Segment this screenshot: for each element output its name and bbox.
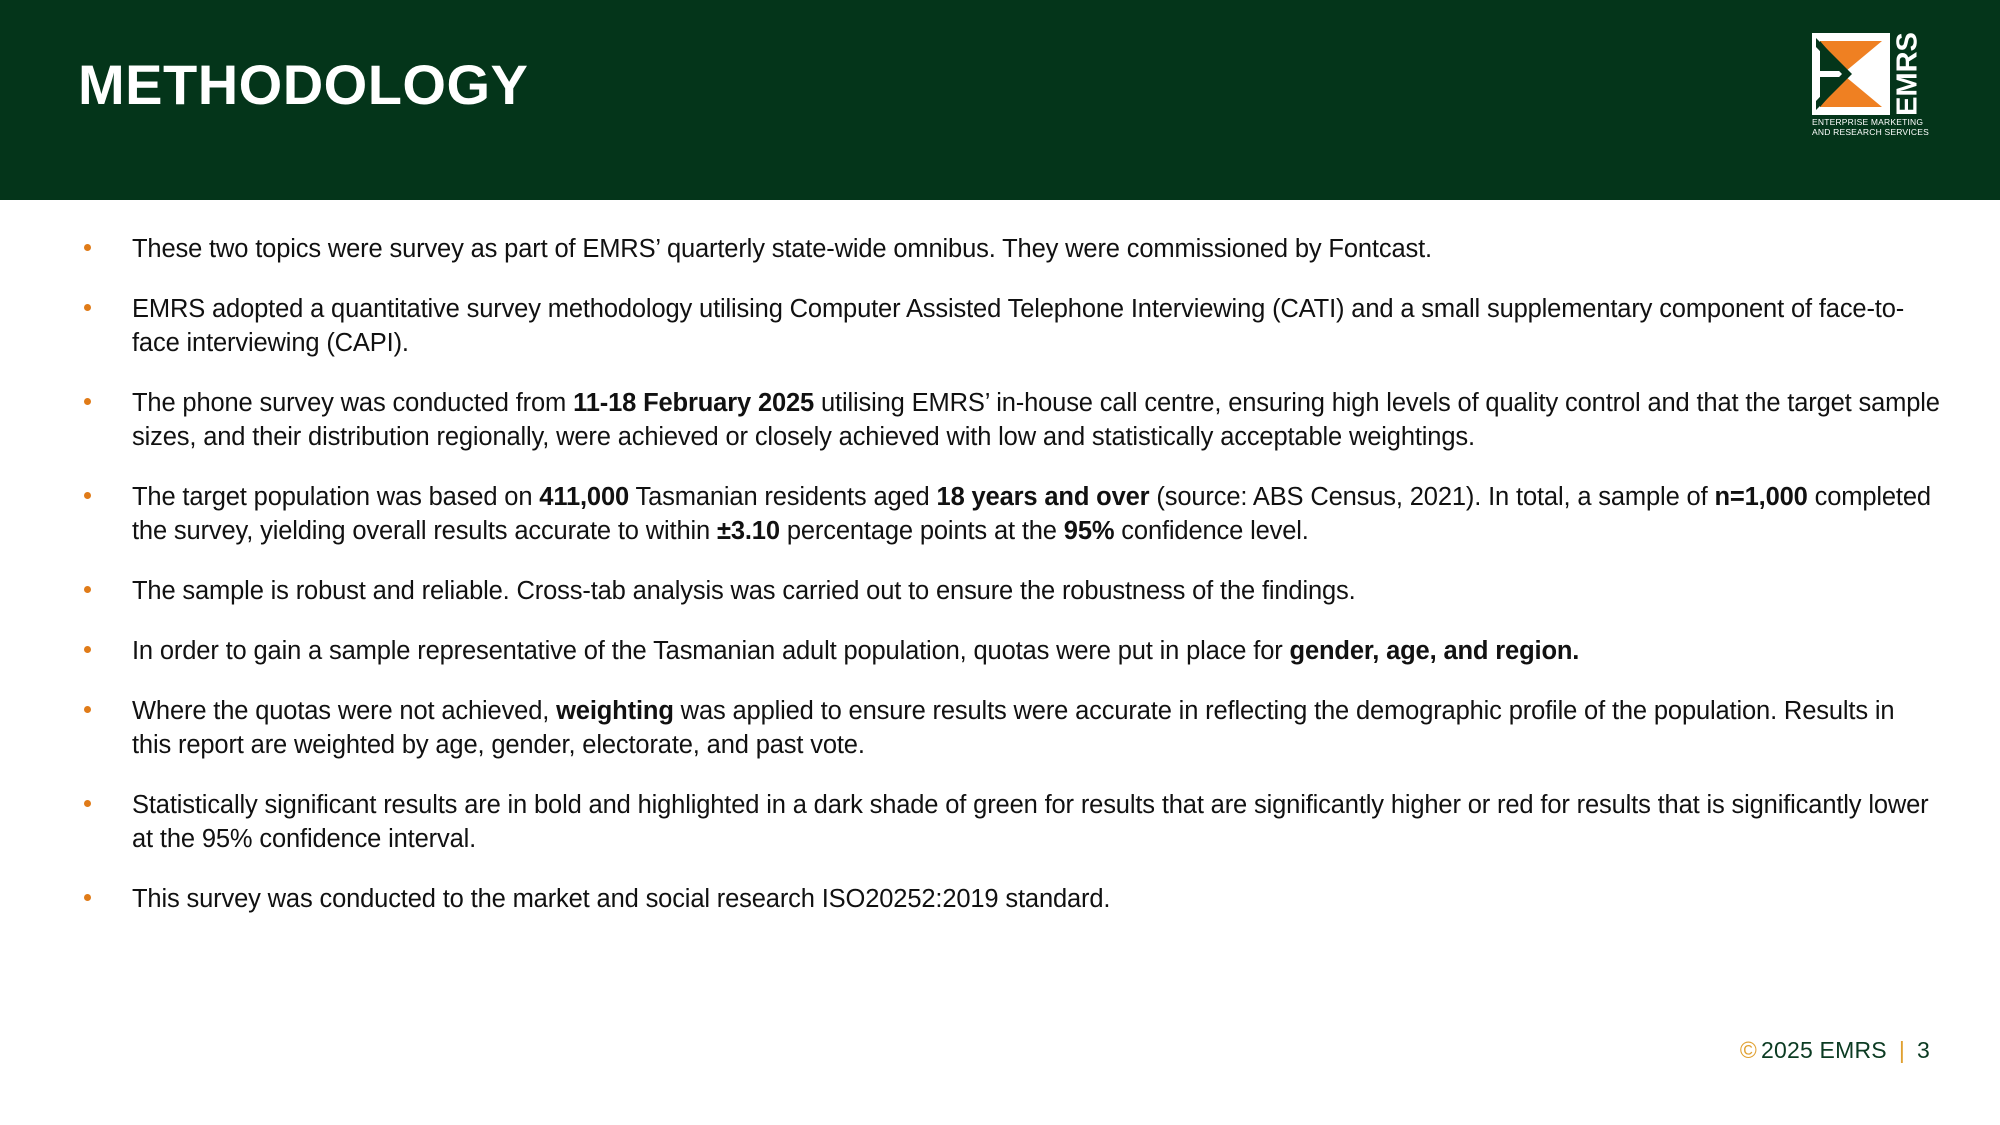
- bullet-text-run: Tasmanian residents aged: [629, 483, 937, 511]
- bullet-emphasis: 95%: [1064, 517, 1115, 545]
- bullet-dot-icon: [84, 706, 91, 713]
- bullet-dot-icon: [84, 586, 91, 593]
- bullet-text-run: The sample is robust and reliable. Cross…: [132, 577, 1356, 605]
- slide-footer: ©2025 EMRS|3: [1740, 1037, 1930, 1064]
- emrs-tagline: ENTERPRISE MARKETING AND RESEARCH SERVIC…: [1812, 117, 1942, 137]
- bullet-emphasis: gender, age, and region.: [1290, 637, 1580, 665]
- slide-header-bar: METHODOLOGY EMRS ENTERPRISE MARKETING AN…: [0, 0, 2000, 200]
- bullet-text-run: These two topics were survey as part of …: [132, 235, 1432, 263]
- bullet-item: EMRS adopted a quantitative survey metho…: [0, 292, 2000, 360]
- bullet-text: In order to gain a sample representative…: [132, 637, 1579, 665]
- bullet-text: The target population was based on 411,0…: [132, 483, 1931, 545]
- emrs-chevron-icon: [1812, 33, 1890, 115]
- bullet-text-run: confidence level.: [1114, 517, 1308, 545]
- bullet-emphasis: n=1,000: [1714, 483, 1807, 511]
- bullet-text-run: Where the quotas were not achieved,: [132, 697, 556, 725]
- bullet-text: Statistically significant results are in…: [132, 791, 1929, 853]
- bullet-text-run: The target population was based on: [132, 483, 539, 511]
- bullet-dot-icon: [84, 894, 91, 901]
- bullet-item: The phone survey was conducted from 11-1…: [0, 386, 2000, 454]
- bullet-item: This survey was conducted to the market …: [0, 882, 2000, 916]
- bullet-text: These two topics were survey as part of …: [132, 235, 1432, 263]
- emrs-wordmark: EMRS: [1886, 33, 1930, 115]
- bullet-text-run: percentage points at the: [780, 517, 1064, 545]
- bullet-item: In order to gain a sample representative…: [0, 634, 2000, 668]
- bullet-text: The phone survey was conducted from 11-1…: [132, 389, 1940, 451]
- emrs-logo: EMRS ENTERPRISE MARKETING AND RESEARCH S…: [1812, 33, 1930, 127]
- bullet-item: The target population was based on 411,0…: [0, 480, 2000, 548]
- bullet-emphasis: 411,000: [539, 483, 629, 511]
- bullet-emphasis: 11-18 February 2025: [573, 389, 814, 417]
- bullet-dot-icon: [84, 244, 91, 251]
- emrs-tagline-line-2: AND RESEARCH SERVICES: [1812, 127, 1942, 137]
- bullet-emphasis: weighting: [556, 697, 674, 725]
- bullet-text: Where the quotas were not achieved, weig…: [132, 697, 1894, 759]
- bullet-dot-icon: [84, 646, 91, 653]
- bullet-text-run: This survey was conducted to the market …: [132, 885, 1110, 913]
- slide-body: These two topics were survey as part of …: [0, 232, 2000, 942]
- bullet-dot-icon: [84, 304, 91, 311]
- bullet-dot-icon: [84, 800, 91, 807]
- bullet-text: This survey was conducted to the market …: [132, 885, 1110, 913]
- bullet-emphasis: ±3.10: [717, 517, 780, 545]
- copyright-icon: ©: [1740, 1037, 1757, 1063]
- emrs-logo-mark: [1812, 33, 1890, 115]
- emrs-tagline-line-1: ENTERPRISE MARKETING: [1812, 117, 1942, 127]
- copyright-text: 2025 EMRS: [1761, 1037, 1887, 1063]
- bullet-text-run: Statistically significant results are in…: [132, 791, 1929, 853]
- bullet-text: The sample is robust and reliable. Cross…: [132, 577, 1356, 605]
- bullet-item: Statistically significant results are in…: [0, 788, 2000, 856]
- bullet-dot-icon: [84, 492, 91, 499]
- bullet-item: Where the quotas were not achieved, weig…: [0, 694, 2000, 762]
- page-number: 3: [1917, 1037, 1930, 1063]
- bullet-text-run: In order to gain a sample representative…: [132, 637, 1290, 665]
- bullet-emphasis: 18 years and over: [937, 483, 1150, 511]
- emrs-wordmark-text: EMRS: [1892, 32, 1925, 116]
- page-title: METHODOLOGY: [78, 56, 528, 115]
- bullet-text-run: (source: ABS Census, 2021). In total, a …: [1149, 483, 1714, 511]
- bullet-item: The sample is robust and reliable. Cross…: [0, 574, 2000, 608]
- footer-separator: |: [1899, 1037, 1905, 1063]
- methodology-bullet-list: These two topics were survey as part of …: [0, 232, 2000, 916]
- bullet-text-run: EMRS adopted a quantitative survey metho…: [132, 295, 1904, 357]
- bullet-dot-icon: [84, 398, 91, 405]
- bullet-text: EMRS adopted a quantitative survey metho…: [132, 295, 1904, 357]
- bullet-item: These two topics were survey as part of …: [0, 232, 2000, 266]
- bullet-text-run: The phone survey was conducted from: [132, 389, 573, 417]
